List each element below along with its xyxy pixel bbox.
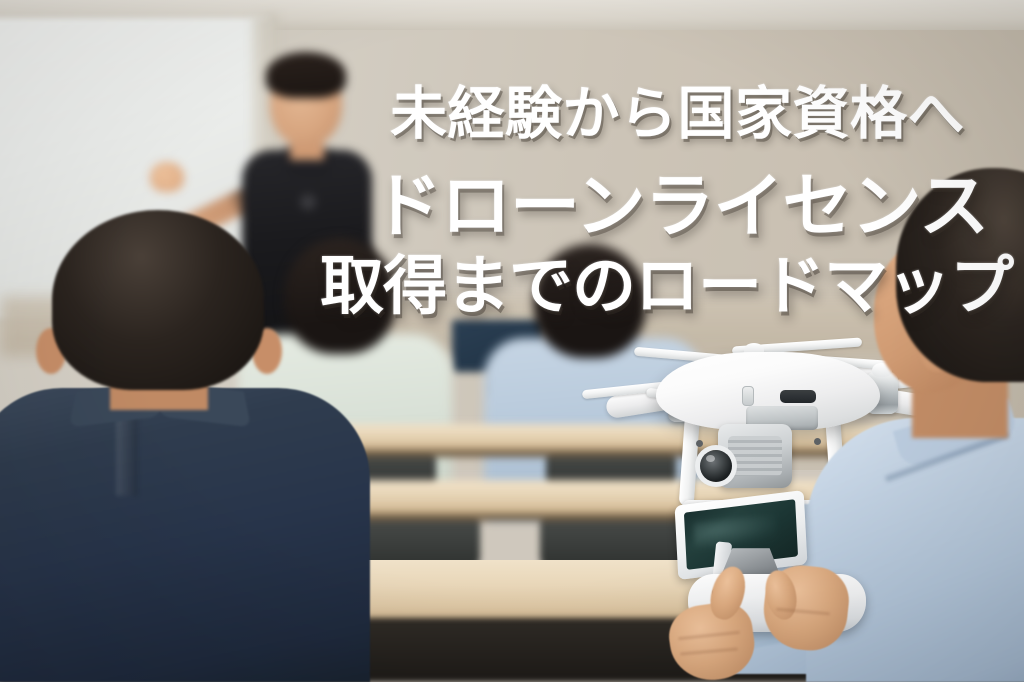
banner-stage: 未経験から国家資格へ ドローンライセンス 取得までのロードマップ <box>0 0 1024 682</box>
man-navy-hair <box>52 210 264 390</box>
instructor-pointing-hand <box>150 162 184 192</box>
navy-shirt-pleat <box>116 416 138 496</box>
navy-shirt <box>0 388 370 682</box>
instructor-shirt-button <box>300 194 316 210</box>
man-navy-shirt <box>0 210 370 682</box>
drone-sensor-dot-left <box>696 440 703 447</box>
instructor-hair <box>266 52 346 98</box>
drone-remote-controller <box>660 488 940 682</box>
drone-vent-slot <box>742 386 754 406</box>
drone-gimbal-ribs <box>728 436 782 476</box>
drone-camera-lens <box>700 450 732 482</box>
